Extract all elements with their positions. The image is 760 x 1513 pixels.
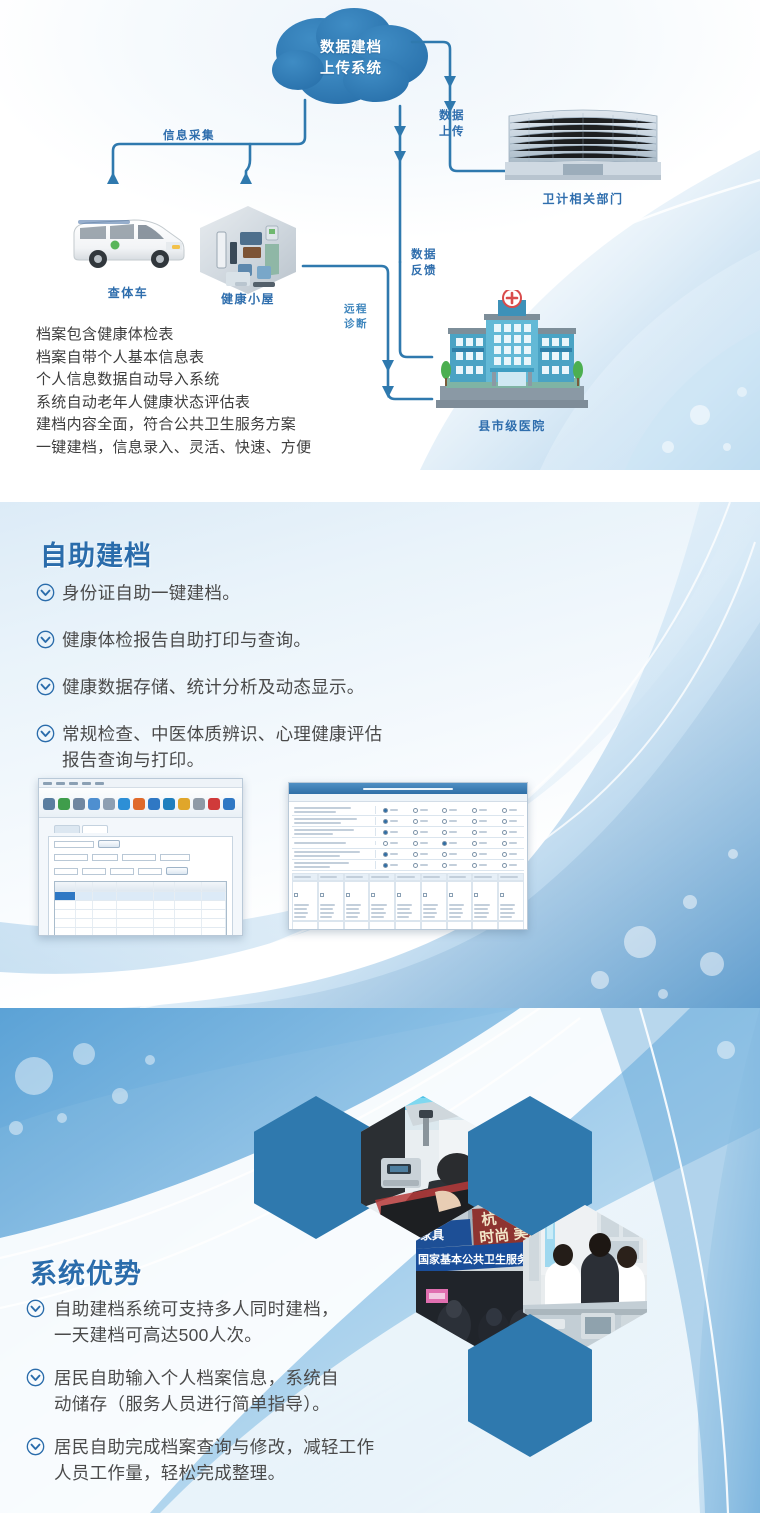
- chevron-down-circle-icon: [36, 630, 55, 649]
- option-5[interactable]: [494, 808, 524, 813]
- screenshot-body: [39, 818, 242, 936]
- section1-feature-list: 档案包含健康体检表 档案自带个人基本信息表 个人信息数据自动导入系统 系统自动老…: [36, 324, 466, 459]
- feature-line: 档案包含健康体检表: [36, 324, 466, 347]
- toolbar-icon: [178, 798, 190, 810]
- question-text: [292, 861, 376, 869]
- bullet-item: 健康数据存储、统计分析及动态显示。: [36, 674, 506, 700]
- form-question-row: [292, 860, 524, 871]
- option-4[interactable]: [465, 819, 495, 824]
- toolbar-icon: [103, 798, 115, 810]
- feature-line: 系统自动老年人健康状态评估表: [36, 392, 466, 415]
- option-4[interactable]: [465, 808, 495, 813]
- checkbox-icon[interactable]: [500, 893, 504, 897]
- option-3[interactable]: [435, 819, 465, 824]
- screenshot-tabs: [54, 825, 239, 833]
- note-cell[interactable]: [344, 921, 370, 930]
- radio-icon[interactable]: [502, 808, 507, 813]
- svg-text:国家基本公共卫生服务车: 国家基本公共卫生服务车: [418, 1252, 539, 1266]
- radio-icon[interactable]: [472, 863, 477, 868]
- constitution-cell: [344, 873, 370, 881]
- radio-icon[interactable]: [502, 819, 507, 824]
- grid-row: [55, 910, 226, 919]
- checkbox-cell[interactable]: [369, 881, 395, 921]
- checkbox-cell[interactable]: [447, 881, 473, 921]
- option-5[interactable]: [494, 852, 524, 857]
- constitution-cell: [421, 873, 447, 881]
- question-text: [292, 841, 376, 845]
- bullet-text: 自助建档系统可支持多人同时建档，一天建档可高达500人次。: [54, 1296, 354, 1348]
- checkbox-icon[interactable]: [294, 893, 298, 897]
- radio-icon[interactable]: [472, 830, 477, 835]
- menu-item: [43, 782, 52, 785]
- flow-label-upload: 数据 上传: [432, 108, 472, 140]
- option-5[interactable]: [494, 819, 524, 824]
- option-4[interactable]: [465, 841, 495, 846]
- option-2[interactable]: [405, 841, 435, 846]
- screenshot-field: [122, 854, 156, 861]
- flow-label-upload-l2: 上传: [432, 124, 472, 140]
- constitution-cell: [292, 873, 318, 881]
- software-screenshot-archive-main: [38, 778, 243, 936]
- toolbar-icon: [88, 798, 100, 810]
- toolbar-icon: [163, 798, 175, 810]
- flow-label-feedback: 数据 反馈: [404, 247, 444, 279]
- toolbar-icon: [148, 798, 160, 810]
- node-label-cabin: 健康小屋: [190, 290, 306, 307]
- flow-label-feedback-l2: 反馈: [404, 263, 444, 279]
- section-divider: [0, 470, 760, 502]
- radio-icon[interactable]: [472, 808, 477, 813]
- question-text: [292, 817, 376, 825]
- screenshot-menubar: [39, 779, 242, 788]
- screenshot-field: [54, 841, 94, 848]
- checkbox-cell[interactable]: [472, 881, 498, 921]
- menu-item: [56, 782, 65, 785]
- screenshot-field: [54, 868, 78, 875]
- radio-icon[interactable]: [442, 819, 447, 824]
- constitution-cell: [395, 873, 421, 881]
- checkbox-icon[interactable]: [423, 893, 427, 897]
- screenshot-field-row: [49, 851, 232, 864]
- option-2[interactable]: [405, 819, 435, 824]
- radio-icon[interactable]: [472, 841, 477, 846]
- chevron-down-circle-icon: [36, 583, 55, 602]
- radio-icon[interactable]: [502, 841, 507, 846]
- flow-label-remote-l1: 远程: [338, 302, 374, 317]
- screenshot-field: [82, 868, 106, 875]
- bullet-item: 身份证自助一键建档。: [36, 580, 506, 606]
- constitution-checkbox-row: [292, 881, 524, 921]
- radio-icon[interactable]: [442, 852, 447, 857]
- feature-line: 建档内容全面，符合公共卫生服务方案: [36, 414, 466, 437]
- flow-label-feedback-l1: 数据: [404, 247, 444, 263]
- note-cell[interactable]: [498, 921, 524, 930]
- chevron-down-circle-icon: [36, 724, 55, 743]
- radio-icon[interactable]: [442, 841, 447, 846]
- screenshot-field: [54, 854, 88, 861]
- toolbar-icon: [118, 798, 130, 810]
- health-cabin-image: [193, 202, 303, 298]
- grid-row-selected: [55, 892, 226, 901]
- radio-icon[interactable]: [383, 808, 388, 813]
- radio-icon[interactable]: [502, 852, 507, 857]
- form-question-row: [292, 827, 524, 838]
- medical-examination-van-image: [68, 212, 188, 274]
- section-system-advantages: 杭 州 时尚 美发 家具 国家基本公共卫生服务车: [0, 1008, 760, 1513]
- question-text: [292, 850, 376, 858]
- screenshot-button: [98, 840, 120, 848]
- section3-title: 系统优势: [30, 1252, 142, 1291]
- checkbox-cell[interactable]: [292, 881, 318, 921]
- bullet-text: 居民自助完成档案查询与修改，减轻工作人员工作量，轻松完成整理。: [54, 1434, 389, 1486]
- screenshot2-body: [289, 802, 527, 930]
- radio-icon[interactable]: [442, 863, 447, 868]
- note-cell[interactable]: [472, 921, 498, 930]
- constitution-cell: [369, 873, 395, 881]
- grid-row: [55, 928, 226, 936]
- checkbox-icon[interactable]: [346, 893, 350, 897]
- radio-icon[interactable]: [413, 841, 418, 846]
- question-text: [292, 828, 376, 836]
- chevron-down-circle-icon: [26, 1368, 45, 1387]
- chevron-down-circle-icon: [36, 677, 55, 696]
- grid-header-row: [55, 882, 226, 892]
- section-flow-diagram: 数据建档 上传系统: [0, 0, 760, 470]
- bullet-text: 常规检查、中医体质辨识、心理健康评估报告查询与打印。: [62, 721, 392, 773]
- bullet-item: 健康体检报告自助打印与查询。: [36, 627, 506, 653]
- note-cell[interactable]: [369, 921, 395, 930]
- bullet-text: 健康数据存储、统计分析及动态显示。: [62, 674, 365, 700]
- checkbox-icon[interactable]: [320, 893, 324, 897]
- screenshot-button: [166, 867, 188, 875]
- checkbox-icon[interactable]: [449, 893, 453, 897]
- constitution-note-row: [292, 921, 524, 930]
- radio-icon[interactable]: [413, 863, 418, 868]
- radio-icon[interactable]: [472, 819, 477, 824]
- toolbar-icon: [193, 798, 205, 810]
- checkbox-icon[interactable]: [474, 893, 478, 897]
- radio-icon[interactable]: [383, 841, 388, 846]
- note-cell[interactable]: [395, 921, 421, 930]
- option-3[interactable]: [435, 841, 465, 846]
- flow-label-collect: 信息采集: [163, 127, 215, 143]
- flow-label-upload-l1: 数据: [432, 108, 472, 124]
- toolbar-icon: [43, 798, 55, 810]
- checkbox-icon[interactable]: [397, 893, 401, 897]
- radio-icon[interactable]: [502, 830, 507, 835]
- constitution-cell: [318, 873, 344, 881]
- option-1[interactable]: [376, 841, 406, 846]
- constitution-cell: [447, 873, 473, 881]
- option-2[interactable]: [405, 852, 435, 857]
- menu-item: [82, 782, 91, 785]
- option-1[interactable]: [376, 830, 406, 835]
- bullet-item: 居民自助输入个人档案信息，系统自动储存（服务人员进行简单指导）。: [26, 1365, 456, 1417]
- screenshot-tab: [54, 825, 80, 833]
- software-screenshot-tcm-form: [288, 782, 528, 930]
- form-question-row: [292, 805, 524, 816]
- note-cell[interactable]: [447, 921, 473, 930]
- radio-icon[interactable]: [383, 830, 388, 835]
- chevron-down-circle-icon: [26, 1299, 45, 1318]
- section3-bullet-list: 自助建档系统可支持多人同时建档，一天建档可高达500人次。 居民自助输入个人档案…: [26, 1296, 456, 1503]
- radio-icon[interactable]: [472, 852, 477, 857]
- grid-row: [55, 901, 226, 910]
- bullet-text: 健康体检报告自助打印与查询。: [62, 627, 311, 653]
- screenshot2-toolbar: [289, 794, 527, 802]
- toolbar-icon: [133, 798, 145, 810]
- checkbox-cell[interactable]: [318, 881, 344, 921]
- note-cell[interactable]: [292, 921, 318, 930]
- grid-row: [55, 919, 226, 928]
- chevron-down-circle-icon: [26, 1437, 45, 1456]
- hexagon-decorative-1: [254, 1096, 378, 1239]
- checkbox-icon[interactable]: [371, 893, 375, 897]
- option-3[interactable]: [435, 863, 465, 868]
- toolbar-icon: [208, 798, 220, 810]
- bullet-item: 常规检查、中医体质辨识、心理健康评估报告查询与打印。: [36, 721, 506, 773]
- node-label-gov: 卫计相关部门: [505, 190, 661, 207]
- radio-icon[interactable]: [413, 819, 418, 824]
- screenshot-field: [138, 868, 162, 875]
- option-4[interactable]: [465, 830, 495, 835]
- screenshot-tab-active: [82, 825, 108, 833]
- feature-line: 一键建档，信息录入、灵活、快速、方便: [36, 437, 466, 460]
- option-5[interactable]: [494, 841, 524, 846]
- note-cell[interactable]: [421, 921, 447, 930]
- option-1[interactable]: [376, 808, 406, 813]
- screenshot-field: [110, 868, 134, 875]
- screenshot-data-grid: [54, 881, 227, 936]
- option-2[interactable]: [405, 863, 435, 868]
- toolbar-icon: [223, 798, 235, 810]
- radio-icon[interactable]: [413, 852, 418, 857]
- radio-icon[interactable]: [442, 808, 447, 813]
- menu-item: [69, 782, 78, 785]
- option-1[interactable]: [376, 852, 406, 857]
- feature-line: 个人信息数据自动导入系统: [36, 369, 466, 392]
- toolbar-icon: [58, 798, 70, 810]
- screenshot-panel: [48, 836, 233, 936]
- constitution-cell: [498, 873, 524, 881]
- option-5[interactable]: [494, 863, 524, 868]
- radio-icon[interactable]: [413, 830, 418, 835]
- checkbox-cell[interactable]: [344, 881, 370, 921]
- option-4[interactable]: [465, 863, 495, 868]
- option-2[interactable]: [405, 830, 435, 835]
- option-3[interactable]: [435, 808, 465, 813]
- option-4[interactable]: [465, 852, 495, 857]
- radio-icon[interactable]: [383, 819, 388, 824]
- form-question-row: [292, 816, 524, 827]
- bullet-item: 自助建档系统可支持多人同时建档，一天建档可高达500人次。: [26, 1296, 456, 1348]
- bullet-text: 身份证自助一键建档。: [62, 580, 240, 606]
- screenshot-field-row: [49, 837, 232, 851]
- option-1[interactable]: [376, 819, 406, 824]
- node-label-van: 查体车: [68, 284, 188, 301]
- option-1[interactable]: [376, 863, 406, 868]
- checkbox-cell[interactable]: [498, 881, 524, 921]
- screenshot-field-row: [49, 864, 232, 878]
- question-text: [292, 806, 376, 814]
- checkbox-cell[interactable]: [395, 881, 421, 921]
- menu-item: [95, 782, 104, 785]
- section2-title: 自助建档: [40, 534, 152, 573]
- radio-icon[interactable]: [502, 863, 507, 868]
- health-commission-building-image: [505, 104, 661, 182]
- radio-icon[interactable]: [383, 863, 388, 868]
- note-cell[interactable]: [318, 921, 344, 930]
- option-3[interactable]: [435, 830, 465, 835]
- bullet-text: 居民自助输入个人档案信息，系统自动储存（服务人员进行简单指导）。: [54, 1365, 354, 1417]
- bullet-item: 居民自助完成档案查询与修改，减轻工作人员工作量，轻松完成整理。: [26, 1434, 456, 1486]
- screenshot-field: [92, 854, 118, 861]
- checkbox-cell[interactable]: [421, 881, 447, 921]
- screenshot2-titlebar: [289, 783, 527, 794]
- constitution-cell: [472, 873, 498, 881]
- screenshot-field: [160, 854, 190, 861]
- screenshot-toolbar: [39, 788, 242, 818]
- constitution-header-row: [292, 873, 524, 881]
- form-question-row: [292, 838, 524, 849]
- radio-icon[interactable]: [442, 830, 447, 835]
- toolbar-icon: [73, 798, 85, 810]
- section2-bullet-list: 身份证自助一键建档。 健康体检报告自助打印与查询。 健康数据存储、统计分析及动态…: [36, 580, 506, 794]
- infographic-page: 数据建档 上传系统: [0, 0, 760, 1513]
- feature-line: 档案自带个人基本信息表: [36, 347, 466, 370]
- option-2[interactable]: [405, 808, 435, 813]
- option-5[interactable]: [494, 830, 524, 835]
- radio-icon[interactable]: [413, 808, 418, 813]
- option-3[interactable]: [435, 852, 465, 857]
- radio-icon[interactable]: [383, 852, 388, 857]
- form-question-row: [292, 849, 524, 860]
